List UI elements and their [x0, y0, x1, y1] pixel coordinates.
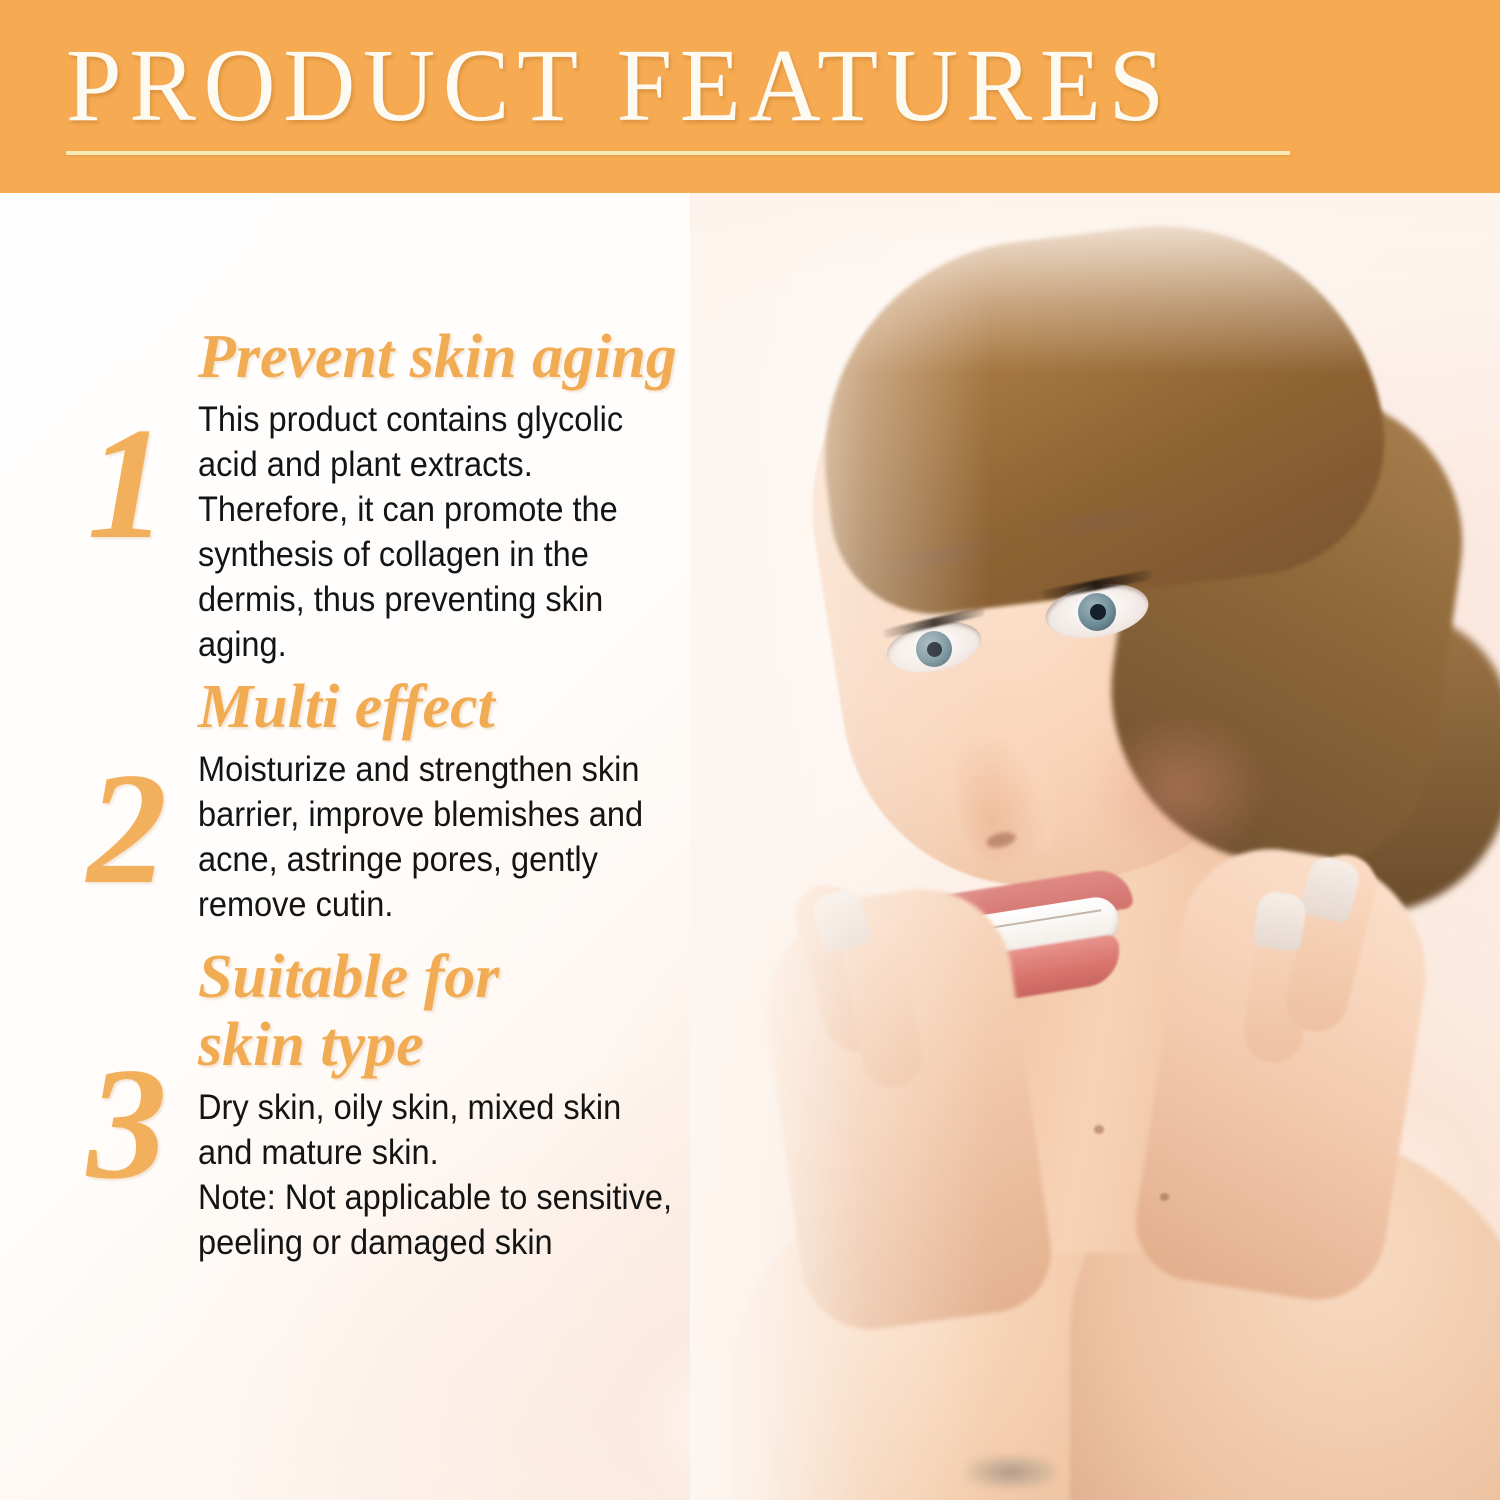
- header-bar: PRODUCT FEATURES: [0, 0, 1500, 193]
- feature-note-3: Note: Not applicable to sensitive, peeli…: [198, 1175, 682, 1265]
- feature-number-3: 3: [62, 1043, 192, 1203]
- feature-text-3: Dry skin, oily skin, mixed skin and matu…: [198, 1085, 682, 1175]
- cheek-blush: [1090, 713, 1270, 863]
- photo-top-fade: [690, 193, 1500, 373]
- feature-number-1: 1: [62, 403, 192, 563]
- feature-number-2: 2: [62, 748, 192, 908]
- feature-body-3: Suitable for skin type Dry skin, oily sk…: [198, 943, 718, 1265]
- title-underline: [66, 151, 1290, 155]
- model-photo: [690, 193, 1500, 1500]
- feature-body-1: Prevent skin aging This product contains…: [198, 323, 718, 667]
- feature-heading-2: Multi effect: [198, 673, 718, 741]
- beauty-mark: [1160, 1193, 1169, 1201]
- feature-text-1: This product contains glycolic acid and …: [198, 397, 682, 667]
- feature-text-2: Moisturize and strengthen skin barrier, …: [198, 747, 682, 927]
- product-features-infographic: PRODUCT FEATURES 1 Prevent skin aging Th…: [0, 0, 1500, 1500]
- fingernail: [1252, 890, 1307, 952]
- feature-heading-1: Prevent skin aging: [198, 323, 718, 391]
- feature-list: 1 Prevent skin aging This product contai…: [0, 193, 760, 1500]
- beauty-mark: [1094, 1125, 1104, 1134]
- page-title: PRODUCT FEATURES: [66, 31, 1172, 141]
- feature-heading-3: Suitable for skin type: [198, 943, 718, 1079]
- feature-body-2: Multi effect Moisturize and strengthen s…: [198, 673, 718, 927]
- pupil-right: [1090, 604, 1106, 620]
